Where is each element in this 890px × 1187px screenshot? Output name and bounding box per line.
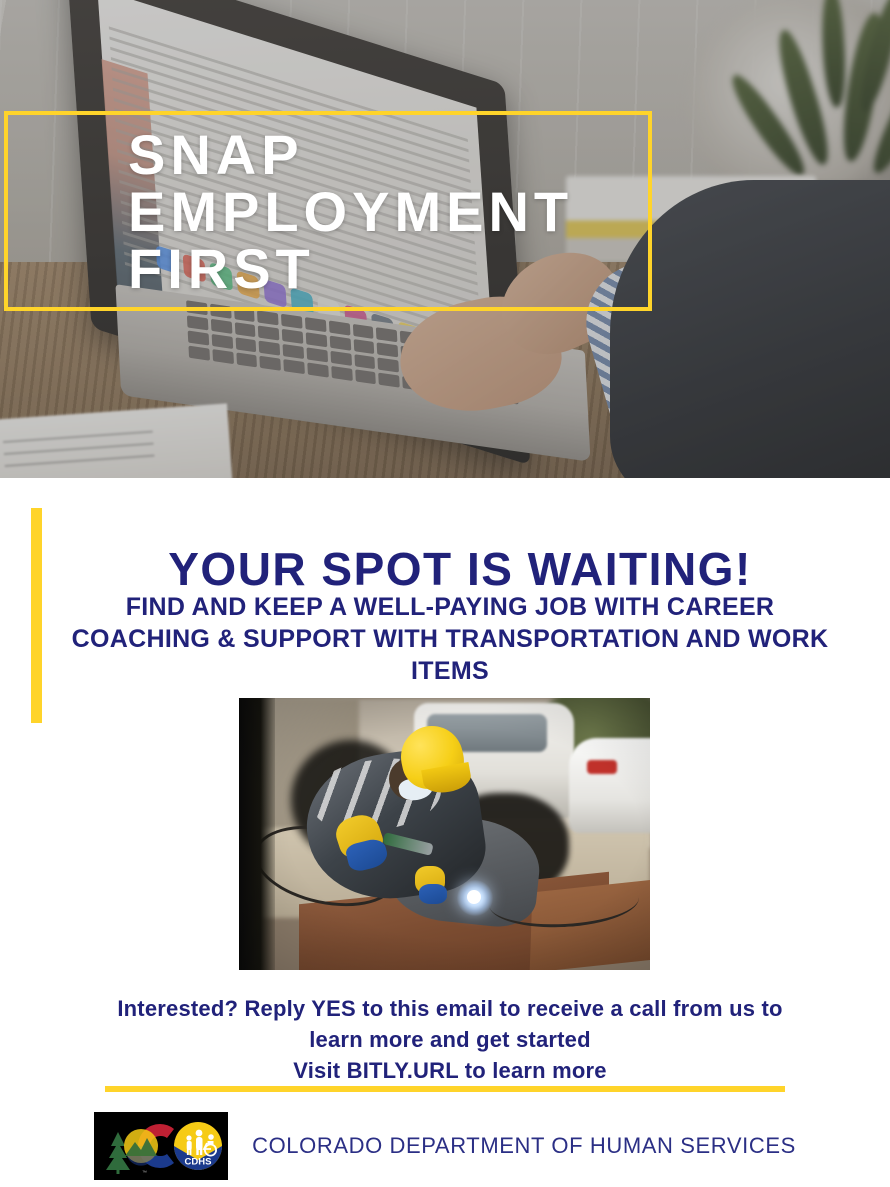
cta-line-1: Interested? Reply YES to this email to r… — [70, 993, 830, 1024]
subheadline: FIND AND KEEP A WELL-PAYING JOB WITH CAR… — [70, 591, 830, 687]
cta-line-3[interactable]: Visit BITLY.URL to learn more — [70, 1055, 830, 1086]
cdhs-logo-icon: CDHS ™ — [94, 1112, 228, 1180]
trademark-mark: ™ — [142, 1170, 147, 1176]
footer-divider — [105, 1086, 785, 1092]
call-to-action-text: Interested? Reply YES to this email to r… — [70, 993, 830, 1086]
subheadline-line-1: FIND AND KEEP A WELL-PAYING JOB WITH CAR… — [126, 593, 775, 621]
hero-title-line-3: FIRST — [128, 240, 748, 297]
footer: CDHS ™ COLORADO DEPARTMENT OF HUMAN SERV… — [0, 1105, 890, 1187]
hero-title-line-2: EMPLOYMENT — [128, 183, 748, 240]
hero-title: SNAP EMPLOYMENT FIRST — [128, 126, 748, 297]
subheadline-line-2: COACHING & SUPPORT WITH TRANSPORTATION A… — [72, 625, 741, 653]
hero-title-line-1: SNAP — [128, 126, 748, 183]
welder-vignette — [239, 698, 650, 970]
agency-name: COLORADO DEPARTMENT OF HUMAN SERVICES — [252, 1133, 796, 1159]
page-title: YOUR SPOT IS WAITING! — [60, 542, 860, 596]
yellow-accent-bar — [31, 508, 42, 723]
snap-employment-first-flyer: SNAP EMPLOYMENT FIRST YOUR SPOT IS WAITI… — [0, 0, 890, 1187]
cdhs-badge-icon: CDHS — [174, 1122, 222, 1170]
welder-photo — [239, 698, 650, 970]
cta-line-2: learn more and get started — [70, 1024, 830, 1055]
colorado-cdhs-logo: CDHS ™ — [94, 1112, 228, 1180]
cdhs-badge-label: CDHS — [185, 1157, 212, 1168]
